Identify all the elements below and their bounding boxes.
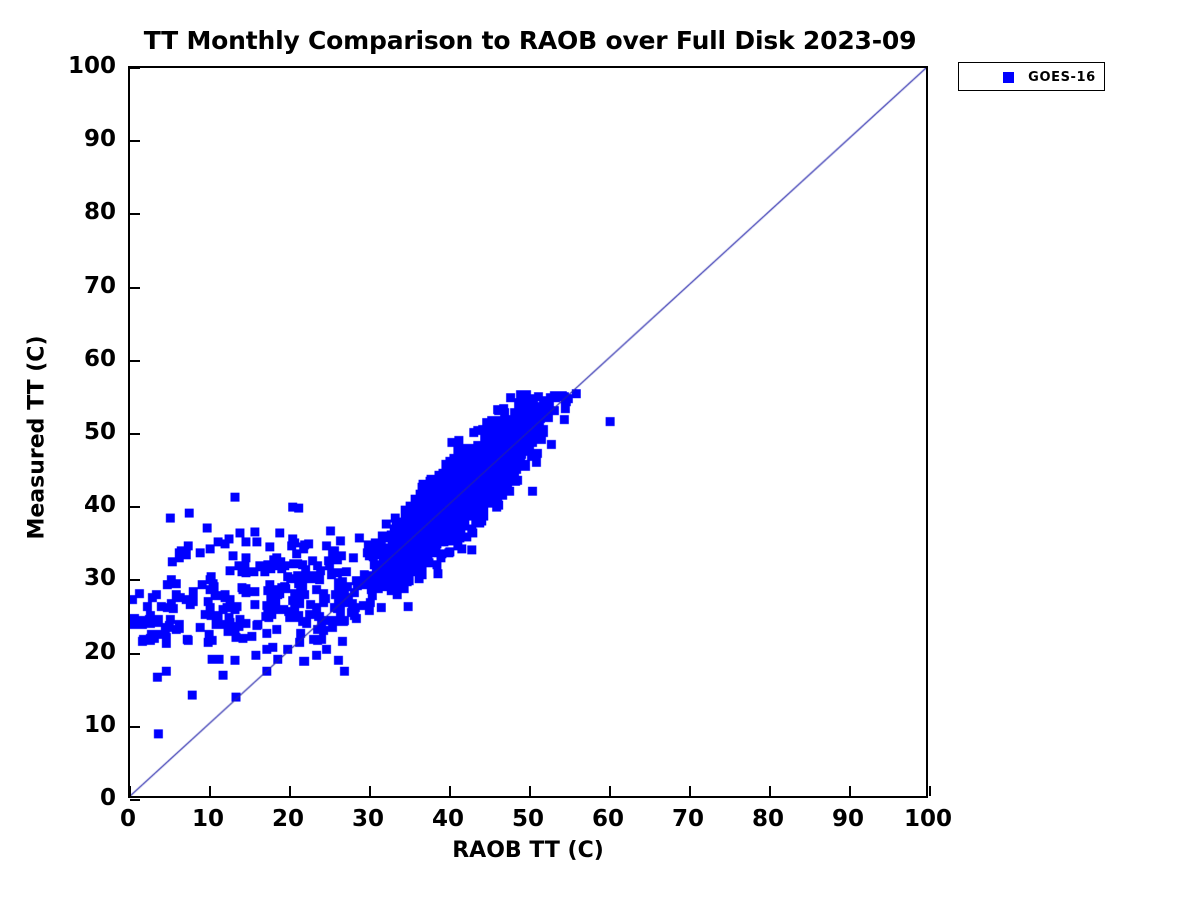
y-tick-label-60: 60 [84,346,116,372]
scatter-canvas [130,68,926,796]
legend-label-goes-16: GOES-16 [1025,70,1099,85]
x-axis-label: RAOB TT (C) [128,838,928,863]
y-tick-60 [130,360,140,362]
y-tick-label-40: 40 [84,492,116,518]
x-tick-label-60: 60 [592,806,624,832]
plot-area [128,66,928,798]
y-tick-100 [130,67,140,69]
y-tick-label-80: 80 [84,199,116,225]
x-tick-label-20: 20 [272,806,304,832]
x-tick-0 [129,786,131,796]
y-tick-90 [130,140,140,142]
x-tick-label-0: 0 [120,806,136,832]
scatter-plot-figure: TT Monthly Comparison to RAOB over Full … [0,0,1200,900]
x-tick-label-70: 70 [672,806,704,832]
y-tick-label-0: 0 [100,785,116,811]
y-tick-label-50: 50 [84,419,116,445]
x-tick-label-80: 80 [752,806,784,832]
y-axis-label: Measured TT (C) [25,268,50,608]
x-tick-30 [369,786,371,796]
x-tick-20 [289,786,291,796]
x-tick-label-30: 30 [352,806,384,832]
y-tick-10 [130,726,140,728]
y-tick-80 [130,213,140,215]
y-tick-label-20: 20 [84,639,116,665]
y-tick-label-10: 10 [84,712,116,738]
x-tick-label-10: 10 [192,806,224,832]
y-tick-20 [130,653,140,655]
x-tick-80 [769,786,771,796]
y-tick-label-30: 30 [84,565,116,591]
x-tick-50 [529,786,531,796]
y-tick-30 [130,579,140,581]
x-tick-label-50: 50 [512,806,544,832]
y-tick-0 [130,799,140,801]
y-tick-40 [130,506,140,508]
y-tick-50 [130,433,140,435]
legend: GOES-16 [958,62,1105,91]
x-tick-100 [929,786,931,796]
legend-swatch-goes-16 [1003,72,1014,83]
x-tick-10 [209,786,211,796]
y-tick-70 [130,287,140,289]
page-title: TT Monthly Comparison to RAOB over Full … [0,26,1060,55]
x-tick-label-90: 90 [832,806,864,832]
x-tick-90 [849,786,851,796]
y-tick-label-90: 90 [84,126,116,152]
x-tick-label-40: 40 [432,806,464,832]
x-tick-70 [689,786,691,796]
x-tick-40 [449,786,451,796]
y-tick-label-70: 70 [84,273,116,299]
x-tick-label-100: 100 [904,806,952,832]
y-tick-label-100: 100 [68,53,116,79]
x-tick-60 [609,786,611,796]
